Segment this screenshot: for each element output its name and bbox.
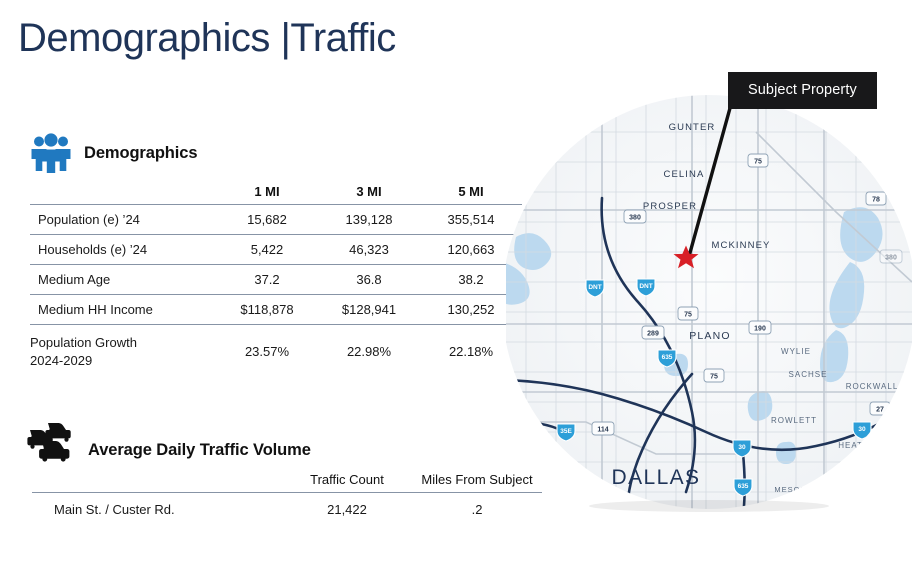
cell-1mi: 15,682	[216, 205, 318, 235]
svg-text:30: 30	[858, 426, 866, 433]
svg-text:MESQUITE: MESQUITE	[774, 485, 821, 494]
svg-text:190: 190	[754, 326, 766, 333]
cell-1mi: 5,422	[216, 235, 318, 265]
traffic-section-header: Average Daily Traffic Volume	[26, 419, 309, 463]
svg-text:GUNTER: GUNTER	[669, 122, 716, 133]
column-header-traffic-count: Traffic Count	[282, 472, 412, 493]
subject-property-callout[interactable]: Subject Property	[728, 72, 877, 109]
cell-3mi: $128,941	[318, 295, 420, 325]
svg-text:HEATH: HEATH	[838, 441, 870, 450]
cars-traffic-icon	[26, 419, 74, 463]
column-header-1mi: 1 MI	[216, 182, 318, 205]
svg-text:SACHSE: SACHSE	[789, 370, 828, 379]
traffic-table: Traffic Count Miles From Subject Main St…	[32, 472, 542, 521]
row-label: Population (e) ’24	[30, 205, 216, 235]
svg-text:ROCKWALL: ROCKWALL	[846, 382, 899, 391]
cell-traffic-count: 21,422	[282, 493, 412, 522]
row-label: Medium Age	[30, 265, 216, 295]
cell-1mi: $118,878	[216, 295, 318, 325]
svg-text:DNT: DNT	[588, 284, 601, 291]
svg-text:635: 635	[662, 354, 673, 361]
svg-text:DNT: DNT	[639, 283, 652, 290]
table-row: Households (e) ’24 5,422 46,323 120,663	[30, 235, 522, 265]
column-header-label	[30, 182, 216, 205]
svg-text:27: 27	[876, 407, 884, 414]
svg-text:75: 75	[754, 159, 762, 166]
svg-text:380: 380	[629, 215, 641, 222]
slide-root: Demographics |Traffic Demographics	[0, 0, 912, 588]
row-label: Households (e) ’24	[30, 235, 216, 265]
svg-text:75: 75	[684, 312, 692, 319]
table-row: Population Growth 2024-2029 23.57% 22.98…	[30, 325, 522, 379]
svg-text:DALLAS: DALLAS	[612, 466, 701, 489]
cell-1mi: 23.57%	[216, 325, 318, 379]
svg-text:114: 114	[597, 427, 608, 434]
cell-1mi: 37.2	[216, 265, 318, 295]
page-title: Demographics |Traffic	[18, 16, 396, 61]
cell-3mi: 46,323	[318, 235, 420, 265]
svg-text:380: 380	[885, 255, 897, 262]
row-label: Population Growth 2024-2029	[30, 325, 216, 379]
cell-3mi: 139,128	[318, 205, 420, 235]
svg-text:MCKINNEY: MCKINNEY	[712, 240, 771, 251]
row-label: Main St. / Custer Rd.	[32, 493, 282, 522]
row-label: Medium HH Income	[30, 295, 216, 325]
table-row: Main St. / Custer Rd. 21,422 .2	[32, 493, 542, 522]
svg-text:30: 30	[738, 444, 746, 451]
svg-text:PLANO: PLANO	[689, 330, 731, 342]
svg-text:78: 78	[872, 197, 880, 204]
table-header-row: Traffic Count Miles From Subject	[32, 472, 542, 493]
svg-text:75: 75	[710, 374, 718, 381]
column-header-3mi: 3 MI	[318, 182, 420, 205]
cell-3mi: 22.98%	[318, 325, 420, 379]
svg-text:ROWLETT: ROWLETT	[771, 416, 817, 425]
svg-text:WYLIE: WYLIE	[781, 347, 811, 356]
traffic-section-label: Average Daily Traffic Volume	[88, 441, 311, 460]
svg-text:635: 635	[738, 483, 749, 490]
table-row: Medium HH Income $118,878 $128,941 130,2…	[30, 295, 522, 325]
column-header-label	[32, 472, 282, 493]
demographics-section-label: Demographics	[84, 144, 197, 163]
demographics-table: 1 MI 3 MI 5 MI Population (e) ’24 15,682…	[30, 182, 522, 378]
svg-text:PROSPER: PROSPER	[643, 201, 697, 212]
table-row: Population (e) ’24 15,682 139,128 355,51…	[30, 205, 522, 235]
svg-text:CELINA: CELINA	[664, 169, 705, 180]
location-map[interactable]: 380 75 78 380 289 190 75 75 114 27 DNT D…	[506, 92, 912, 512]
table-header-row: 1 MI 3 MI 5 MI	[30, 182, 522, 205]
table-row: Medium Age 37.2 36.8 38.2	[30, 265, 522, 295]
cell-3mi: 36.8	[318, 265, 420, 295]
people-group-icon	[30, 133, 72, 173]
svg-text:289: 289	[647, 331, 659, 338]
svg-text:35E: 35E	[560, 428, 572, 435]
demographics-section-header: Demographics	[30, 133, 197, 173]
